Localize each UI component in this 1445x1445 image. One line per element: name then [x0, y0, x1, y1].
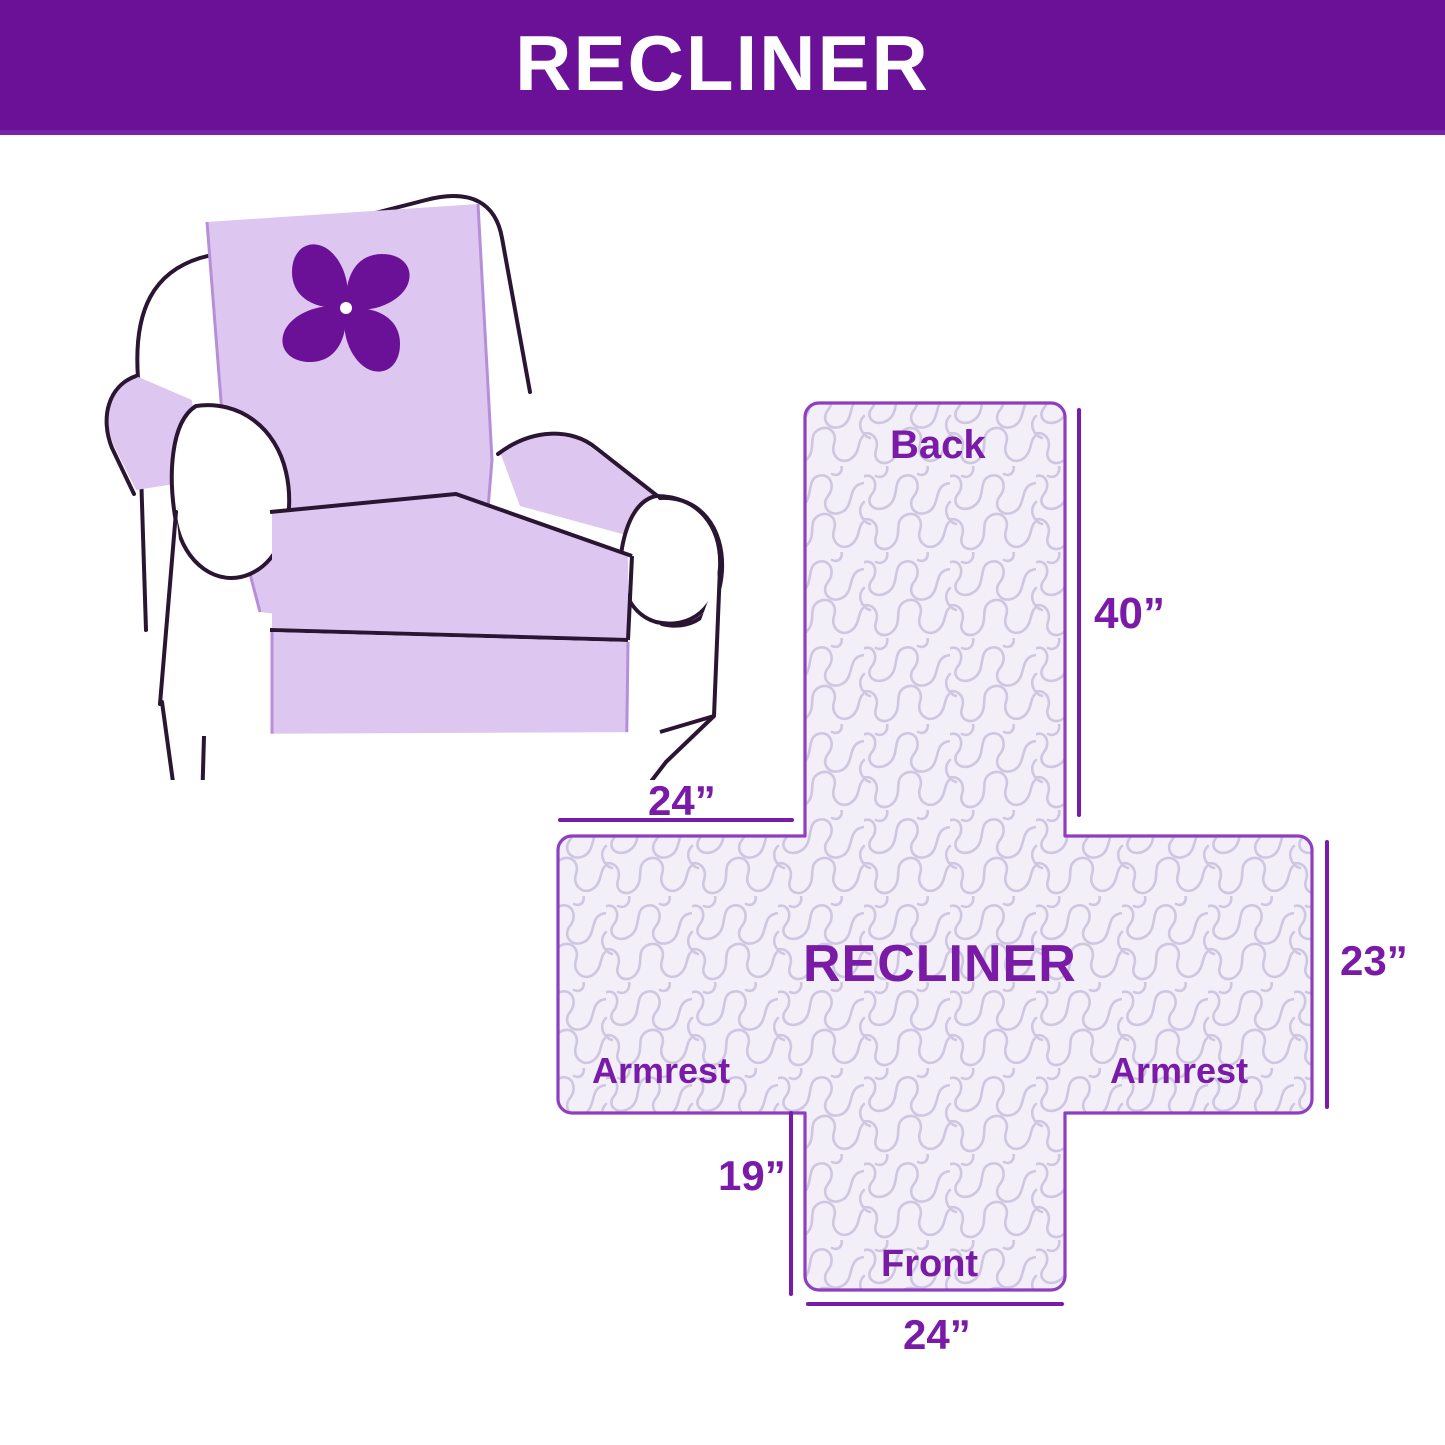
diagram-center-label: RECLINER — [803, 938, 1077, 990]
panel-label-back: Back — [890, 425, 986, 465]
page-title: RECLINER — [515, 24, 930, 102]
header-bottom-edge — [0, 130, 1445, 135]
dimension-value-back-width: 24” — [648, 780, 716, 822]
panel-label-armrest-right: Armrest — [1110, 1053, 1248, 1089]
dimension-value-armrest-depth: 23” — [1340, 940, 1408, 982]
dimension-value-back-length: 40” — [1094, 592, 1165, 636]
dimension-value-front-width: 24” — [903, 1314, 971, 1356]
slipcover-layout-diagram — [520, 380, 1445, 1340]
slipcover-cross-shape — [558, 403, 1312, 1290]
dimension-value-front-length: 19” — [718, 1155, 786, 1197]
panel-label-front: Front — [881, 1245, 978, 1283]
header-banner: RECLINER — [0, 0, 1445, 130]
panel-label-armrest-left: Armrest — [592, 1053, 730, 1089]
infographic-canvas: RECLINER — [0, 0, 1445, 1445]
